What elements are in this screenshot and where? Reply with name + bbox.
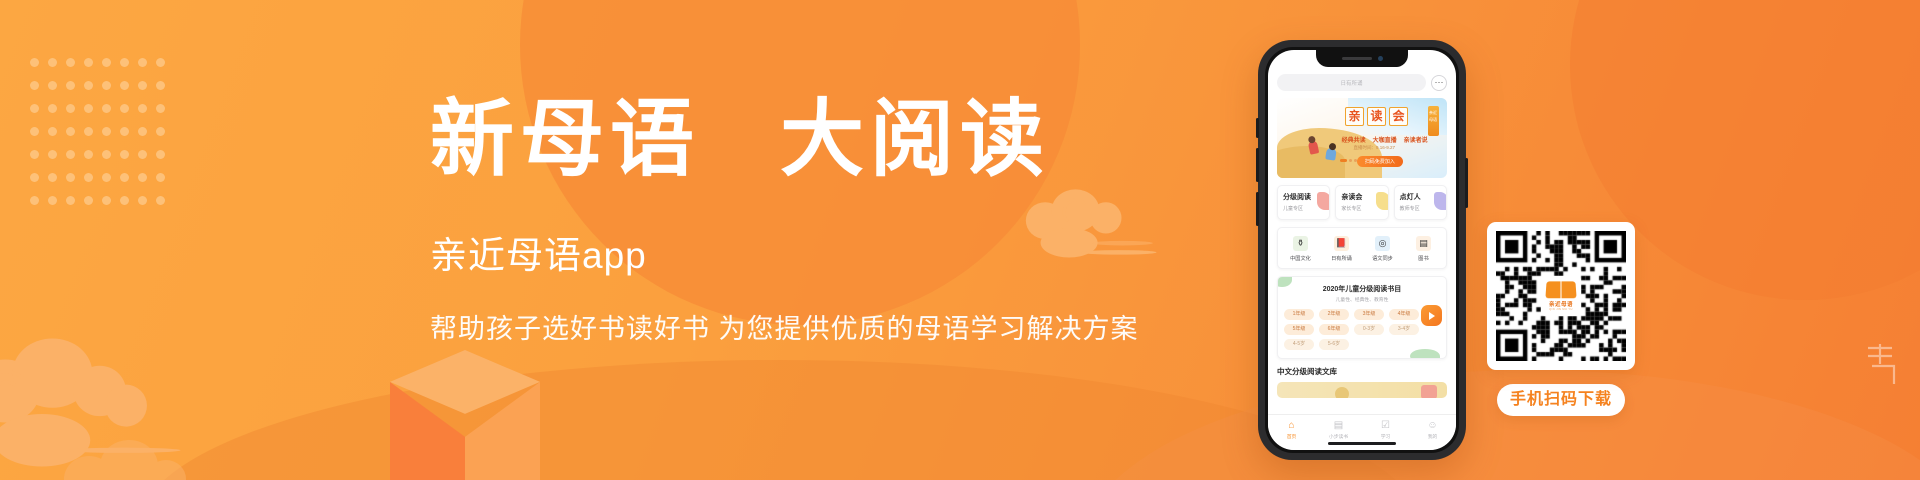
- promo-card[interactable]: 亲 读 会 亲近母语 经典共读 大咖直播 亲读者说 直播时间：9.16-9.27…: [1277, 98, 1447, 178]
- quick-link[interactable]: ⚱中国文化: [1280, 236, 1321, 262]
- grid-dot: [84, 127, 93, 136]
- grid-dot: [66, 127, 75, 136]
- list-icon: ▤: [1416, 236, 1431, 251]
- phone-power-button: [1465, 158, 1468, 208]
- age-chip[interactable]: 0-3岁: [1354, 324, 1384, 335]
- search-row: 日有所诵: [1277, 74, 1447, 91]
- grid-dot: [66, 150, 75, 159]
- phone-notch: [1316, 50, 1408, 67]
- booklist-card[interactable]: 2020年儿童分级阅读书目 儿童性、经典性、教育性 1年级2年级3年级4年级5年…: [1277, 276, 1447, 359]
- grid-dot: [120, 173, 129, 182]
- carousel-dots[interactable]: [1340, 159, 1357, 162]
- cube-decoration: [390, 350, 540, 480]
- sync-icon: ◎: [1375, 236, 1390, 251]
- booklist-subtitle: 儿童性、经典性、教育性: [1284, 296, 1440, 303]
- grid-dot: [102, 150, 111, 159]
- grid-dot: [156, 81, 165, 90]
- tab-home[interactable]: ⌂首页: [1268, 420, 1315, 440]
- play-video-icon[interactable]: [1421, 305, 1442, 326]
- grid-dot: [138, 173, 147, 182]
- grid-dot: [66, 196, 75, 205]
- library-thumbnail: [1421, 385, 1437, 398]
- library-banner[interactable]: [1277, 382, 1447, 398]
- category-card[interactable]: 分级阅读儿童专区: [1277, 185, 1330, 220]
- grid-dot: [30, 81, 39, 90]
- headline-part-2: 大阅读: [780, 94, 1050, 187]
- qr-center-logo: 亲近母语 QIN JIN MU YU: [1541, 276, 1581, 316]
- grid-dot: [138, 104, 147, 113]
- grid-dot: [48, 81, 57, 90]
- grid-dot: [48, 173, 57, 182]
- tab-label: 我的: [1409, 433, 1456, 440]
- grid-dot: [30, 173, 39, 182]
- promo-date: 直播时间：9.16-9.27: [1354, 145, 1396, 151]
- library-section-title: 中文分级阅读文库: [1277, 366, 1447, 377]
- grid-dot: [84, 150, 93, 159]
- promo-title-char: 亲: [1345, 107, 1364, 126]
- qr-download-block: 亲近母语 QIN JIN MU YU 手机扫码下载: [1487, 222, 1635, 416]
- cloud-decoration-left: [0, 324, 206, 480]
- grid-dot: [48, 150, 57, 159]
- promo-subtitles: 经典共读 大咖直播 亲读者说: [1342, 135, 1428, 144]
- grid-dot: [120, 104, 129, 113]
- grid-dot: [102, 196, 111, 205]
- grid-dot: [138, 127, 147, 136]
- more-dots-icon[interactable]: [1431, 75, 1447, 91]
- booklist-title: 2020年儿童分级阅读书目: [1284, 284, 1440, 294]
- grade-chip[interactable]: 1年级: [1284, 309, 1314, 320]
- phone-mockup: 日有所诵 亲 读 会: [1258, 40, 1466, 460]
- category-card-row: 分级阅读儿童专区亲读会家长专区点灯人教师专区: [1277, 185, 1447, 220]
- book-icon: 📕: [1334, 236, 1349, 251]
- grid-dot: [156, 104, 165, 113]
- dot-grid-decoration: [30, 58, 170, 208]
- phone-bezel: 日有所诵 亲 读 会: [1265, 47, 1459, 453]
- app-name-subtitle: 亲近母语app: [430, 225, 1230, 279]
- booklist-chips: 1年级2年级3年级4年级5年级6年级0-3岁3-4岁4-5岁5-6岁: [1284, 309, 1440, 350]
- grid-dot: [120, 196, 129, 205]
- phone-mute-switch: [1256, 118, 1259, 138]
- grade-chip[interactable]: 6年级: [1319, 324, 1349, 335]
- headline-part-1: 新母语: [430, 94, 700, 187]
- promo-title-char: 读: [1367, 107, 1386, 126]
- phone-volume-down-button: [1256, 192, 1259, 226]
- grid-dot: [84, 81, 93, 90]
- grid-dot: [30, 58, 39, 67]
- grid-dot: [120, 81, 129, 90]
- tab-study[interactable]: ☑学习: [1362, 420, 1409, 440]
- grid-dot: [102, 104, 111, 113]
- home-icon: ⌂: [1268, 420, 1315, 432]
- quick-link-label: 日有所诵: [1321, 255, 1362, 262]
- grid-dot: [30, 150, 39, 159]
- grid-dot: [156, 58, 165, 67]
- logo-name: 亲近母语: [1549, 300, 1573, 308]
- front-camera: [1378, 56, 1383, 61]
- quick-link-label: 中国文化: [1280, 255, 1321, 262]
- reader-icon: ▤: [1315, 420, 1362, 432]
- home-indicator: [1328, 442, 1396, 445]
- background-hill: [140, 360, 1420, 480]
- promo-subtitle: 亲读者说: [1404, 135, 1428, 144]
- tab-label: 首页: [1268, 433, 1315, 440]
- library-avatar: [1335, 387, 1349, 398]
- grid-dot: [48, 196, 57, 205]
- quick-links-row: ⚱中国文化📕日有所诵◎语文同步▤图书: [1277, 227, 1447, 269]
- study-icon: ☑: [1362, 420, 1409, 432]
- grade-chip[interactable]: 5年级: [1284, 324, 1314, 335]
- grid-dot: [48, 127, 57, 136]
- grid-dot: [66, 173, 75, 182]
- grid-dot: [66, 104, 75, 113]
- promo-subtitle: 大咖直播: [1373, 135, 1397, 144]
- promo-title-char: 会: [1389, 107, 1408, 126]
- app-content: 日有所诵 亲 读 会: [1268, 50, 1456, 398]
- grid-dot: [84, 58, 93, 67]
- banner-description: 帮助孩子选好书读好书 为您提供优质的母语学习解决方案: [430, 307, 1230, 346]
- grid-dot: [102, 127, 111, 136]
- grid-dot: [138, 58, 147, 67]
- quick-link[interactable]: 📕日有所诵: [1321, 236, 1362, 262]
- scan-to-download-button[interactable]: 手机扫码下载: [1497, 384, 1625, 416]
- promo-title: 亲 读 会: [1345, 107, 1408, 126]
- grid-dot: [30, 104, 39, 113]
- profile-icon: ☺: [1409, 420, 1456, 432]
- leaf-decoration: [1410, 349, 1440, 359]
- grid-dot: [66, 81, 75, 90]
- grid-dot: [30, 196, 39, 205]
- open-book-icon: [1545, 281, 1576, 298]
- phone-volume-up-button: [1256, 148, 1259, 182]
- grade-chip[interactable]: 3年级: [1354, 309, 1384, 320]
- quick-link[interactable]: ◎语文同步: [1362, 236, 1403, 262]
- copy-block: 新母语 大阅读 亲近母语app 帮助孩子选好书读好书 为您提供优质的母语学习解决…: [430, 96, 1230, 346]
- seal-mark-decoration: [1864, 342, 1898, 386]
- grid-dot: [102, 81, 111, 90]
- card-decoration: [1317, 192, 1330, 210]
- search-input[interactable]: 日有所诵: [1277, 74, 1426, 91]
- grid-dot: [120, 150, 129, 159]
- grade-chip[interactable]: 2年级: [1319, 309, 1349, 320]
- grid-dot: [48, 104, 57, 113]
- quick-link[interactable]: ▤图书: [1403, 236, 1444, 262]
- page-title: 新母语 大阅读: [430, 96, 1230, 185]
- grid-dot: [84, 173, 93, 182]
- grid-dot: [138, 81, 147, 90]
- tab-reader[interactable]: ▤小步读书: [1315, 420, 1362, 440]
- phone-screen: 日有所诵 亲 读 会: [1268, 50, 1456, 450]
- vase-icon: ⚱: [1293, 236, 1308, 251]
- grid-dot: [120, 127, 129, 136]
- grid-dot: [102, 173, 111, 182]
- grid-dot: [102, 58, 111, 67]
- grid-dot: [138, 196, 147, 205]
- promo-cta-button[interactable]: 扫码免费加入: [1357, 156, 1403, 167]
- grid-dot: [84, 196, 93, 205]
- tab-label: 学习: [1362, 433, 1409, 440]
- grid-dot: [48, 58, 57, 67]
- tab-label: 小步读书: [1315, 433, 1362, 440]
- age-chip[interactable]: 5-6岁: [1319, 339, 1349, 350]
- age-chip[interactable]: 4-5岁: [1284, 339, 1314, 350]
- promo-banner: 新母语 大阅读 亲近母语app 帮助孩子选好书读好书 为您提供优质的母语学习解决…: [0, 0, 1920, 480]
- grid-dot: [66, 58, 75, 67]
- grid-dot: [84, 104, 93, 113]
- card-decoration: [1376, 192, 1389, 210]
- age-chip[interactable]: 3-4岁: [1389, 324, 1419, 335]
- category-card[interactable]: 亲读会家长专区: [1335, 185, 1388, 220]
- earpiece-speaker: [1342, 57, 1372, 60]
- category-card[interactable]: 点灯人教师专区: [1394, 185, 1447, 220]
- grid-dot: [120, 58, 129, 67]
- logo-pinyin: QIN JIN MU YU: [1549, 308, 1572, 311]
- quick-link-label: 语文同步: [1362, 255, 1403, 262]
- card-decoration: [1434, 192, 1447, 210]
- promo-subtitle: 经典共读: [1342, 135, 1366, 144]
- grid-dot: [156, 127, 165, 136]
- qr-code-card[interactable]: 亲近母语 QIN JIN MU YU: [1487, 222, 1635, 370]
- grid-dot: [156, 196, 165, 205]
- grid-dot: [156, 173, 165, 182]
- cloud-decoration-lower-left: [60, 430, 220, 480]
- grade-chip[interactable]: 4年级: [1389, 309, 1419, 320]
- tab-profile[interactable]: ☺我的: [1409, 420, 1456, 440]
- grid-dot: [156, 150, 165, 159]
- promo-badge: 亲近母语: [1428, 106, 1439, 136]
- quick-link-label: 图书: [1403, 255, 1444, 262]
- grid-dot: [30, 127, 39, 136]
- grid-dot: [138, 150, 147, 159]
